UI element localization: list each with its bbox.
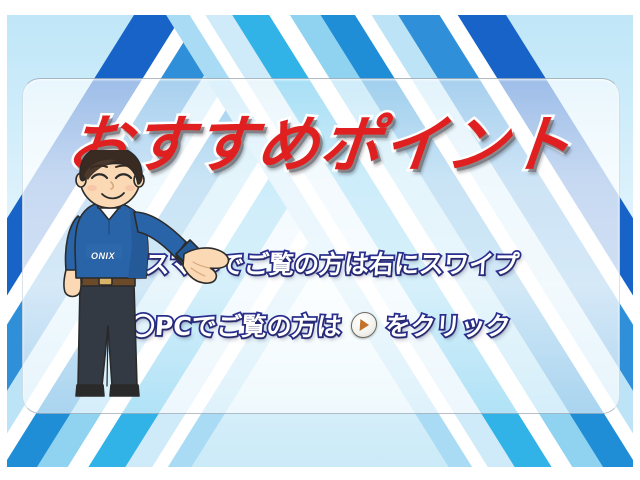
banner-stage: おすすめポイント 〇スマホでご覧の方は右にスワイプ 〇PCでご覧の方は をクリッ…	[0, 0, 640, 480]
instruction-click-suffix: をクリック	[384, 307, 512, 343]
play-circle-icon[interactable]	[349, 312, 377, 338]
shirt-logo-text: ONIX	[91, 251, 115, 261]
staff-mascot: ONIX	[58, 150, 238, 402]
staff-mascot-illustration	[58, 150, 238, 402]
